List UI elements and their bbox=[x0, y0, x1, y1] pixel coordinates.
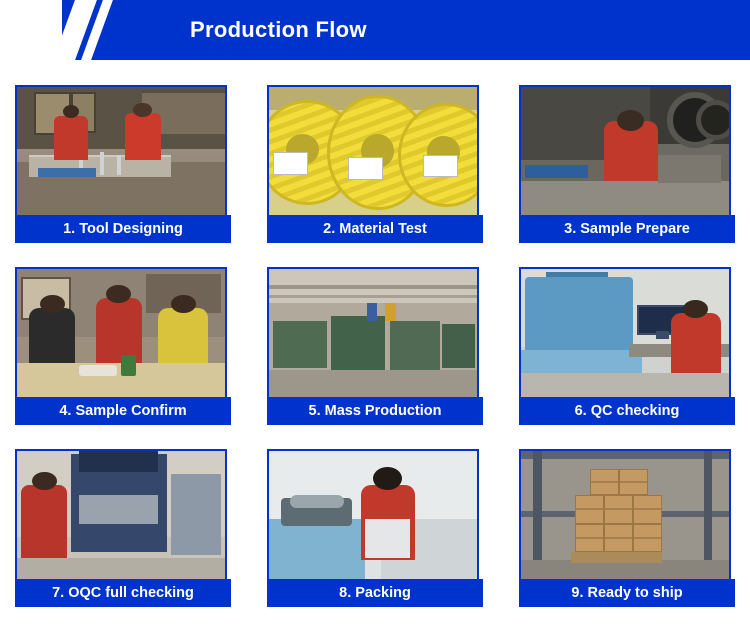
step-caption-3: 3. Sample Prepare bbox=[519, 215, 735, 243]
step-photo-material-test bbox=[267, 85, 479, 219]
step-caption-2: 2. Material Test bbox=[267, 215, 483, 243]
step-photo-oqc-full-checking bbox=[15, 449, 227, 583]
step-caption-5: 5. Mass Production bbox=[267, 397, 483, 425]
step-card-2: 2. Material Test bbox=[267, 85, 483, 255]
production-flow-grid: 1. Tool Designing 2. Material Test 3. Sa bbox=[0, 60, 750, 619]
step-photo-tool-designing bbox=[15, 85, 227, 219]
step-card-8: 8. Packing bbox=[267, 449, 483, 619]
step-photo-sample-confirm bbox=[15, 267, 227, 401]
step-caption-6: 6. QC checking bbox=[519, 397, 735, 425]
step-caption-4: 4. Sample Confirm bbox=[15, 397, 231, 425]
step-card-6: 6. QC checking bbox=[519, 267, 735, 437]
page-title: Production Flow bbox=[190, 17, 367, 43]
step-photo-sample-prepare bbox=[519, 85, 731, 219]
step-photo-qc-checking bbox=[519, 267, 731, 401]
step-card-5: 5. Mass Production bbox=[267, 267, 483, 437]
step-card-9: 9. Ready to ship bbox=[519, 449, 735, 619]
page-header: Production Flow bbox=[0, 0, 750, 60]
step-caption-1: 1. Tool Designing bbox=[15, 215, 231, 243]
step-card-1: 1. Tool Designing bbox=[15, 85, 231, 255]
step-caption-9: 9. Ready to ship bbox=[519, 579, 735, 607]
step-photo-mass-production bbox=[267, 267, 479, 401]
step-caption-7: 7. OQC full checking bbox=[15, 579, 231, 607]
header-white-block bbox=[0, 0, 62, 60]
step-caption-8: 8. Packing bbox=[267, 579, 483, 607]
step-card-4: 4. Sample Confirm bbox=[15, 267, 231, 437]
step-photo-packing bbox=[267, 449, 479, 583]
step-card-3: 3. Sample Prepare bbox=[519, 85, 735, 255]
step-card-7: 7. OQC full checking bbox=[15, 449, 231, 619]
step-photo-ready-to-ship bbox=[519, 449, 731, 583]
